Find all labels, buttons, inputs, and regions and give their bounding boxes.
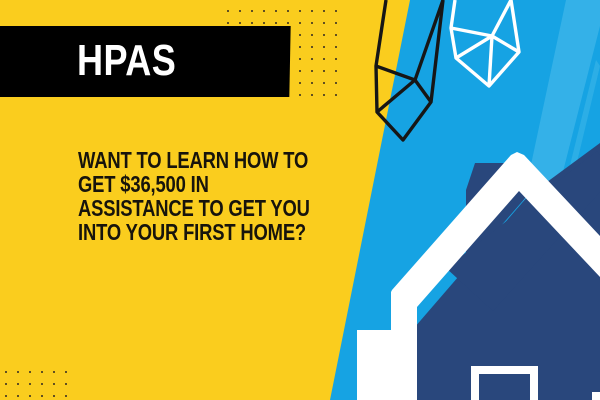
brand-title: HPAS: [77, 38, 176, 84]
headline-line-3: ASSISTANCE TO GET YOU: [78, 196, 318, 220]
headline-line-4: INTO YOUR FIRST HOME?: [78, 220, 318, 244]
house-right-edge: [592, 392, 600, 400]
headline-line-2: GET $36,500 IN: [78, 172, 318, 196]
house-left-wall: [357, 330, 391, 400]
dot-grid-bottom: [0, 366, 75, 400]
headline-line-1: WANT TO LEARN HOW TO: [78, 148, 318, 172]
headline: WANT TO LEARN HOW TO GET $36,500 IN ASSI…: [78, 148, 318, 244]
promo-poster: HPAS WANT TO LEARN HOW TO GET $36,500 IN…: [0, 0, 600, 400]
